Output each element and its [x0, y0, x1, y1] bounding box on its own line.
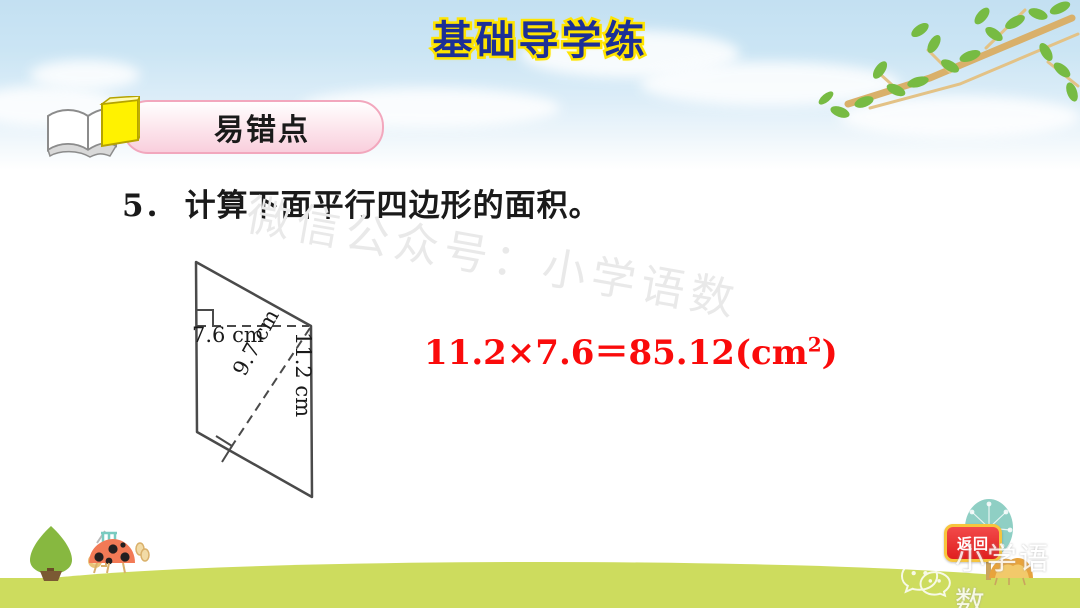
wechat-watermark-text: 小学语数: [955, 534, 1080, 608]
wechat-watermark: 小学语数: [900, 534, 1080, 608]
slide-canvas: 基础导学练 易错点 5．计算下面平行四边形的面积。 微信公众号：小学语数: [0, 0, 1080, 608]
open-book-icon: [44, 96, 140, 158]
answer-close-paren: ): [822, 333, 838, 373]
parallelogram-figure: 7.6 cm 9.7 cm 11.2 cm: [170, 240, 400, 530]
wechat-icon: [900, 558, 951, 598]
figure-label-side: 11.2 cm: [291, 332, 315, 417]
question-number: 5．: [122, 188, 177, 224]
answer-expression: 11.2×7.6＝85.12(cm2): [424, 325, 838, 374]
badge-pill: 易错点: [122, 100, 384, 154]
answer-main: 11.2×7.6＝85.12(cm: [424, 333, 808, 373]
tree-icon: [22, 524, 80, 587]
answer-exponent: 2: [808, 333, 822, 357]
page-title: 基础导学练: [0, 8, 1080, 66]
section-badge: 易错点: [44, 96, 384, 158]
ladybug-icon: [83, 527, 153, 584]
badge-label: 易错点: [214, 105, 310, 149]
